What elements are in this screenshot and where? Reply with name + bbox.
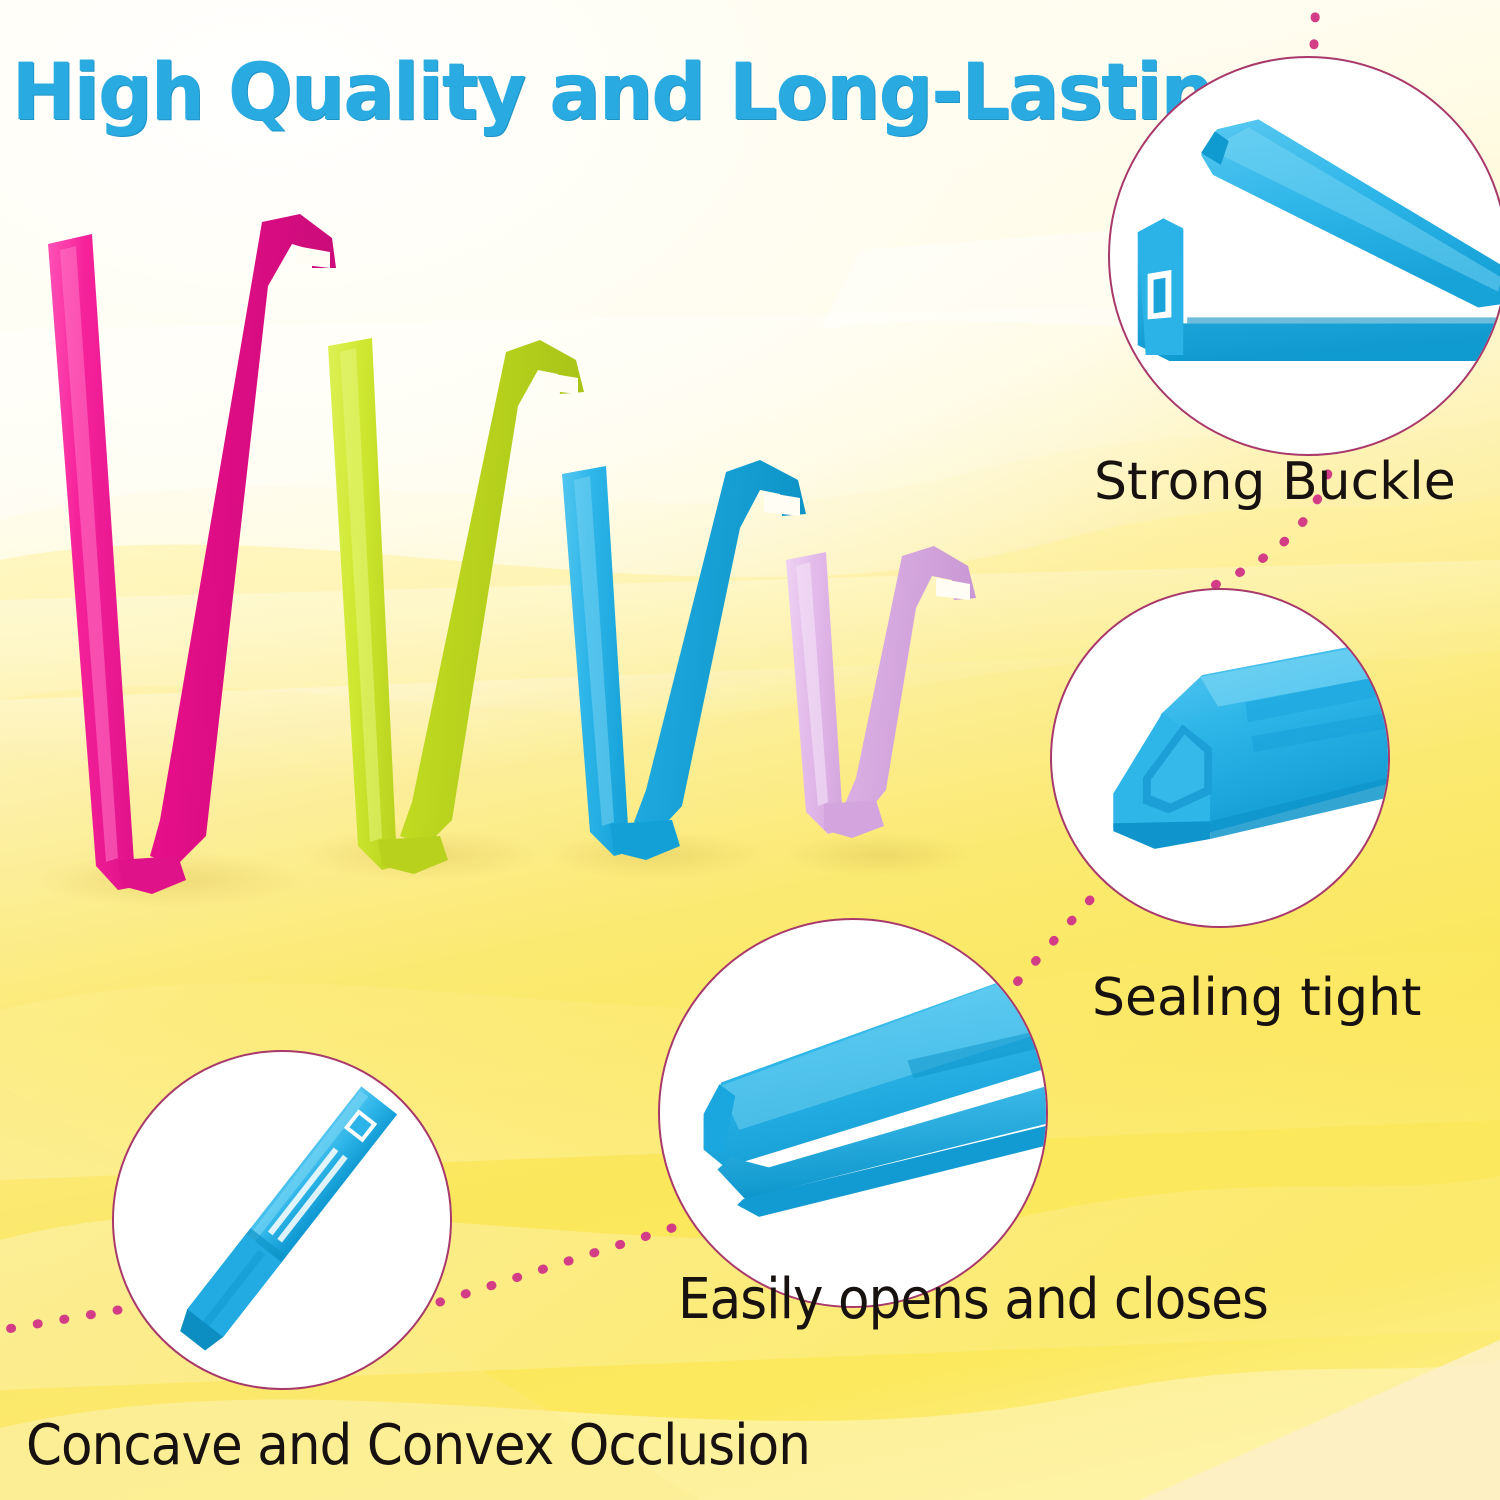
callout-concave-convex-image [114,1052,450,1388]
callout-easily-opens-image [660,920,1046,1306]
callout-sealing-tight-image [1052,590,1388,926]
caption-easily-opens: Easily opens and closes [678,1272,1268,1328]
caption-sealing-tight: Sealing tight [1092,972,1421,1024]
callout-strong-buckle-image [1110,58,1500,454]
callout-strong-buckle[interactable] [1108,56,1500,456]
callout-concave-convex[interactable] [112,1050,452,1390]
clip-blue [562,460,806,860]
callout-sealing-tight[interactable] [1050,588,1390,928]
clip-pink [48,214,336,894]
product-feature-graphic: High Quality and Long-Lasting [0,0,1500,1500]
clip-purple [786,546,976,838]
caption-strong-buckle: Strong Buckle [1094,456,1456,508]
caption-concave-convex: Concave and Convex Occlusion [26,1418,810,1474]
clip-green [328,338,584,874]
callout-easily-opens[interactable] [658,918,1048,1308]
